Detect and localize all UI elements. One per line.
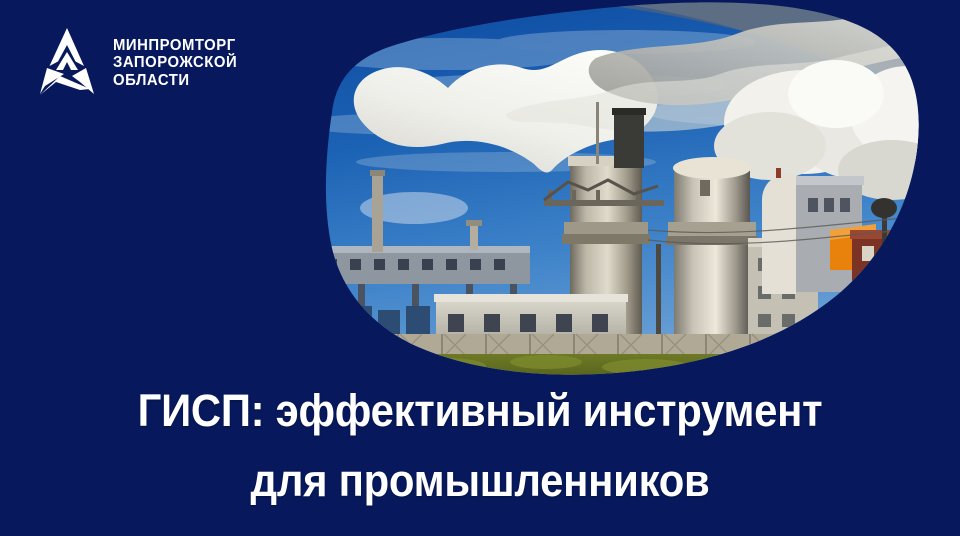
silo-primary-band xyxy=(564,222,648,236)
page-title: ГИСП: эффективный инструмент для промышл… xyxy=(0,376,960,516)
building-brick-windows xyxy=(862,246,918,317)
chimney-tall xyxy=(372,172,383,252)
silo-hatch xyxy=(700,180,710,196)
antenna xyxy=(596,102,599,164)
gallery-roof xyxy=(296,246,530,253)
smokestack-dark-cap xyxy=(612,108,646,115)
building-grey-windows xyxy=(808,198,850,212)
roof-vent-red xyxy=(776,168,781,178)
chimney-cap xyxy=(370,170,385,176)
concrete-fence xyxy=(296,334,924,356)
headline-line-2: для промышленников xyxy=(62,446,899,516)
smokestack-dark xyxy=(614,112,644,168)
headline-line-1: ГИСП: эффективный инструмент xyxy=(62,376,899,446)
vent-cap xyxy=(466,220,482,226)
factory-photo xyxy=(296,0,924,394)
silo-primary-band-2 xyxy=(562,234,650,244)
gallery-windows xyxy=(302,259,505,270)
ministry-logo-text: МИНПРОМТОРГ ЗАПОРОЖСКОЙ ОБЛАСТИ xyxy=(113,37,242,90)
silo-secondary xyxy=(674,166,750,356)
blue-machinery xyxy=(348,306,430,336)
factory-photo-svg xyxy=(296,0,924,394)
poster-canvas: МИНПРОМТОРГ ЗАПОРОЖСКОЙ ОБЛАСТИ ГИСП: эф… xyxy=(0,0,960,536)
logo-line-3: ОБЛАСТИ xyxy=(113,72,237,90)
logo-line-2: ЗАПОРОЖСКОЙ xyxy=(113,54,237,72)
silo-secondary-dome xyxy=(673,157,751,179)
silo-secondary-band xyxy=(668,222,756,237)
ministry-logo: МИНПРОМТОРГ ЗАПОРОЖСКОЙ ОБЛАСТИ xyxy=(34,26,242,98)
triangle-arrow-logo-icon xyxy=(34,26,100,98)
building-grey-tall-roof xyxy=(794,176,864,185)
logo-line-1: МИНПРОМТОРГ xyxy=(113,37,237,55)
vent-stack xyxy=(470,224,478,250)
silo-white-round xyxy=(762,174,796,294)
building-foreground-roof xyxy=(434,294,628,302)
photo-content xyxy=(296,0,924,394)
